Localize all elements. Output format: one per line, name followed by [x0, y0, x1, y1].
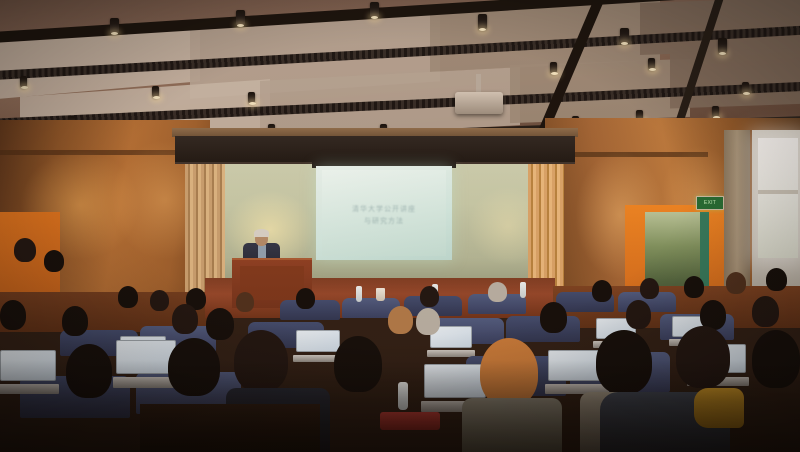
track-light [550, 62, 557, 74]
track-light [742, 82, 749, 94]
audience-head [118, 286, 138, 308]
track-light [248, 92, 255, 104]
window-glass [758, 138, 798, 258]
audience-head [626, 300, 651, 329]
track-light [620, 28, 629, 44]
audience-head [150, 290, 169, 311]
audience-head [420, 286, 439, 307]
audience-head [296, 288, 315, 309]
track-light [370, 2, 379, 18]
presenter-hair [254, 229, 269, 237]
track-light [152, 86, 159, 98]
audience-head [766, 268, 787, 291]
audience-head [388, 306, 413, 334]
water-bottle [356, 286, 362, 302]
track-light [712, 106, 719, 118]
curtain-left [185, 158, 225, 298]
audience-head [640, 278, 659, 299]
audience-head [172, 304, 198, 334]
audience-head [14, 238, 36, 262]
exit-sign-label: EXIT [704, 201, 716, 206]
slide-line-1: 清华大学公开讲座 [330, 204, 438, 216]
coffee-cup [376, 288, 385, 301]
slide-text: 清华大学公开讲座 与研究方法 [330, 204, 438, 228]
water-bottle [520, 282, 526, 298]
laptop-screen [296, 330, 340, 352]
laptop-base [427, 350, 475, 357]
audience-head [44, 250, 64, 272]
curtain-right [528, 156, 564, 296]
window-mullion [758, 190, 798, 194]
slide-line-2: 与研究方法 [330, 216, 438, 228]
audience-head [488, 282, 507, 302]
audience-head [416, 308, 440, 335]
audience-head [0, 300, 26, 330]
foreground-shadow [0, 360, 800, 452]
audience-head [752, 296, 779, 327]
track-light [20, 76, 27, 88]
track-light [236, 10, 245, 26]
audience-head [684, 276, 704, 298]
lecture-hall-photo: EXIT 清华大学公开讲座 与研究方法 [0, 0, 800, 452]
track-light [648, 58, 655, 70]
track-light [718, 38, 727, 54]
projector-icon [455, 92, 503, 114]
projector-mount [476, 74, 481, 94]
exit-sign: EXIT [696, 196, 724, 210]
track-light [110, 18, 119, 34]
track-light [478, 14, 487, 30]
open-laptop [296, 330, 340, 362]
audience-head [726, 272, 746, 294]
audience-head [206, 308, 234, 340]
audience-head [62, 306, 88, 336]
audience-head [236, 292, 254, 312]
audience-head [540, 302, 567, 333]
audience-head [592, 280, 612, 302]
